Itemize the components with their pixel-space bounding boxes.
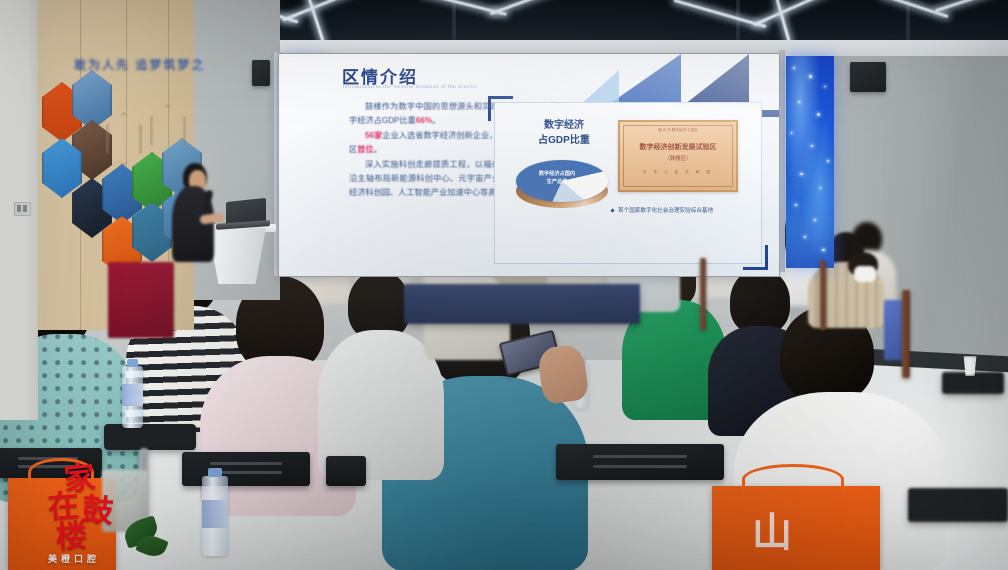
slide-highlight: 66% <box>416 116 432 125</box>
face-mask <box>854 266 876 282</box>
conference-table <box>404 284 640 324</box>
watermark-char: 楼 <box>55 521 88 554</box>
ceiling-light-fixture <box>418 0 568 34</box>
card-corner <box>743 245 768 270</box>
chair-backrest <box>556 444 724 480</box>
pie-segment-label: 数字经济占国内 生产总值 <box>526 170 588 186</box>
chart-title-line2: 占GDP比重 <box>516 133 612 148</box>
certificate-top-line: 福 州 市 数字经济 示范区 <box>618 128 738 133</box>
slide-highlight: 56家 <box>365 131 382 140</box>
light-switch-plate[interactable] <box>14 202 31 216</box>
led-panel-bezel-right <box>778 50 785 272</box>
chair-frame <box>700 258 706 330</box>
starfield-led-panel-right <box>786 56 834 268</box>
slide-deco-triangle <box>579 70 619 106</box>
tablet-arm-table <box>104 424 196 450</box>
card-corner <box>488 96 513 121</box>
presentation-slide: 区情介绍 Introduction to the General Situati… <box>279 54 779 276</box>
star-field <box>786 56 834 268</box>
water-bottle <box>122 366 143 428</box>
slide-bullet-text: 首个国家数字化社会治理实验综合基地 <box>618 206 713 214</box>
water-bottle <box>202 476 228 556</box>
slide-highlight: 首位 <box>357 145 373 154</box>
projection-screen: 区情介绍 Introduction to the General Situati… <box>279 54 779 276</box>
chair <box>326 456 366 486</box>
certificate-photo: 福 州 市 数字经济 示范区 数字经济创新发展试验区 （鼓楼区） 中 华 人 民… <box>618 120 738 192</box>
watermark-logo: 家 在 鼓 楼 美橙口腔 <box>46 466 130 566</box>
pie-chart-3d: 数字经济占国内 生产总值 <box>516 154 608 216</box>
slide-subtitle: Introduction to the General Situation of… <box>343 84 477 89</box>
photo-scene: 敢为人先 追梦筑梦之 <box>0 0 1008 570</box>
certificate-sub-line: （鼓楼区） <box>618 154 738 162</box>
tote-bag-handle <box>742 464 844 495</box>
side-table <box>908 488 1008 522</box>
chair-slot <box>593 465 687 468</box>
chair-frame <box>820 260 826 330</box>
wall-speaker <box>850 62 886 92</box>
ceiling-light-fixture <box>878 0 998 30</box>
certificate-seal-line: 中 华 人 民 共 和 国 <box>618 170 738 175</box>
tote-bag: 山 <box>712 486 880 570</box>
tote-bag-logo: 山 <box>752 500 792 558</box>
red-table-cloth <box>108 262 174 338</box>
certificate-main-line: 数字经济创新发展试验区 <box>618 142 738 152</box>
chair <box>556 444 724 480</box>
chart-title-line1: 数字经济 <box>516 118 612 133</box>
slide-chart-card: 数字经济 占GDP比重 数字经济占国内 生产总值 福 州 市 数字经济 示范区 … <box>494 102 762 264</box>
wall-art-headline: 敢为人先 追梦筑梦之 <box>74 56 205 73</box>
chair-slot <box>593 455 687 458</box>
chair-slot <box>210 462 282 465</box>
chart-title: 数字经济 占GDP比重 <box>516 118 612 148</box>
chair-backrest <box>326 456 366 486</box>
watermark-subtitle: 美橙口腔 <box>48 552 134 565</box>
chair-seat <box>884 300 904 360</box>
chair-frame <box>902 290 910 378</box>
wall-speaker <box>252 60 270 86</box>
